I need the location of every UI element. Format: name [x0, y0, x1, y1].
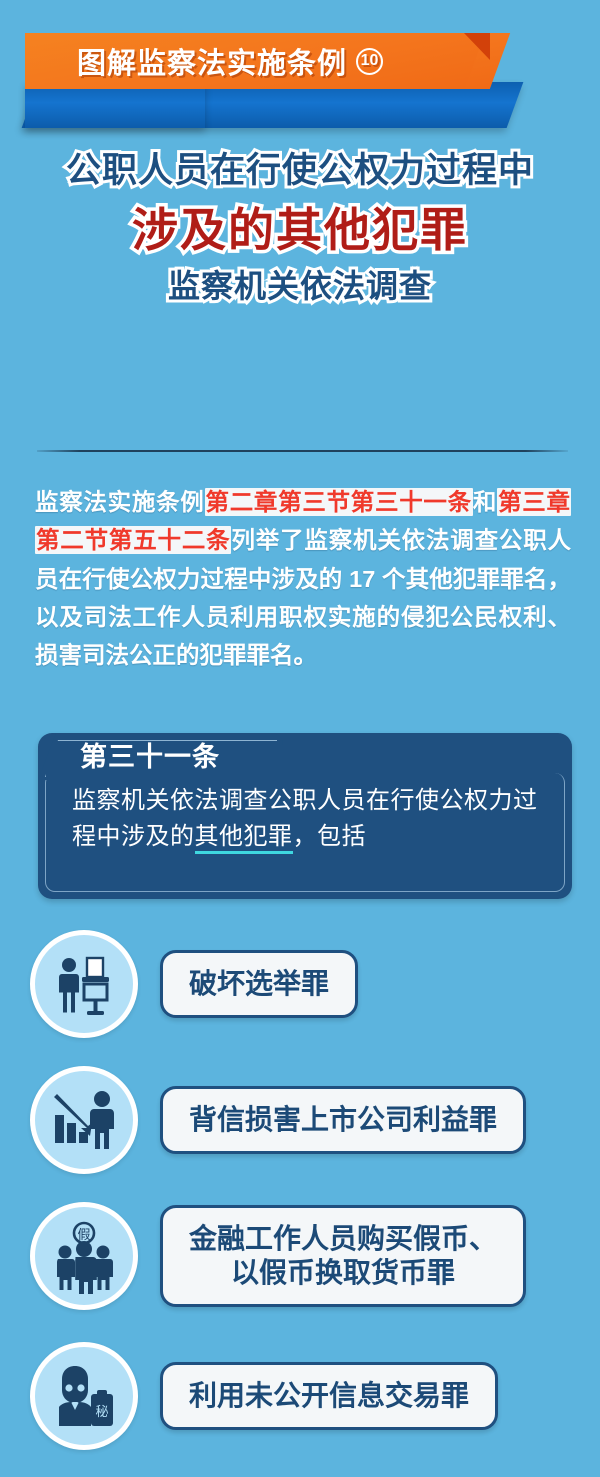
page-title: 公职人员在行使公权力过程中 涉及的其他犯罪 监察机关依法调查	[0, 150, 600, 305]
three-people-fake-currency-icon: 假	[30, 1202, 138, 1310]
article-tab-label: 第三十一条	[80, 739, 220, 776]
crime-label[interactable]: 利用未公开信息交易罪	[160, 1362, 498, 1430]
crime-label[interactable]: 破坏选举罪	[160, 950, 358, 1018]
article-body-text: 监察机关依法调查公职人员在行使公权力过程中涉及的其他犯罪，包括	[72, 783, 546, 855]
banner-title-group: 图解监察法实施条例 10	[0, 33, 460, 89]
declining-chart-businessman-icon	[30, 1066, 138, 1174]
title-line-2-emphasis: 涉及的其他犯罪	[0, 203, 600, 257]
title-line-1: 公职人员在行使公权力过程中	[0, 150, 600, 191]
svg-text:假: 假	[77, 1227, 90, 1242]
svg-text:秘: 秘	[95, 1404, 108, 1419]
intro-paragraph: 监察法实施条例第二章第三节第三十一条和第三章第二节第五十二条列举了监察机关依法调…	[35, 483, 571, 674]
crime-label[interactable]: 金融工作人员购买假币、 以假币换取货币罪	[160, 1205, 526, 1307]
paragraph-part-2: 和	[473, 489, 497, 515]
ballot-box-voter-icon	[30, 930, 138, 1038]
paragraph-highlight-1: 第二章第三节第三十一条	[205, 488, 473, 516]
infographic-page: 图解监察法实施条例 10 公职人员在行使公权力过程中 涉及的其他犯罪 监察机关依…	[0, 0, 600, 1477]
person-secret-document-icon: 秘	[30, 1342, 138, 1450]
header-banner: 图解监察法实施条例 10	[0, 0, 600, 140]
article-text-part-2: ，包括	[293, 823, 367, 850]
crime-list-item[interactable]: 背信损害上市公司利益罪	[30, 1066, 526, 1174]
paragraph-part-1: 监察法实施条例	[35, 489, 205, 515]
circled-number-ten-icon: 10	[356, 48, 383, 75]
banner-title: 图解监察法实施条例	[77, 40, 347, 82]
crime-list-item[interactable]: 破坏选举罪	[30, 930, 358, 1038]
crime-label[interactable]: 背信损害上市公司利益罪	[160, 1086, 526, 1154]
article-text-underlined: 其他犯罪	[195, 823, 293, 854]
crime-list-item[interactable]: 假 金融工作人员购买假币、 以假币换取货币罪	[30, 1202, 526, 1310]
section-divider	[37, 450, 568, 452]
article-31-box: 第三十一条 监察机关依法调查公职人员在行使公权力过程中涉及的其他犯罪，包括	[38, 733, 572, 899]
crime-list-item[interactable]: 秘 利用未公开信息交易罪	[30, 1342, 498, 1450]
title-line-3: 监察机关依法调查	[0, 268, 600, 306]
